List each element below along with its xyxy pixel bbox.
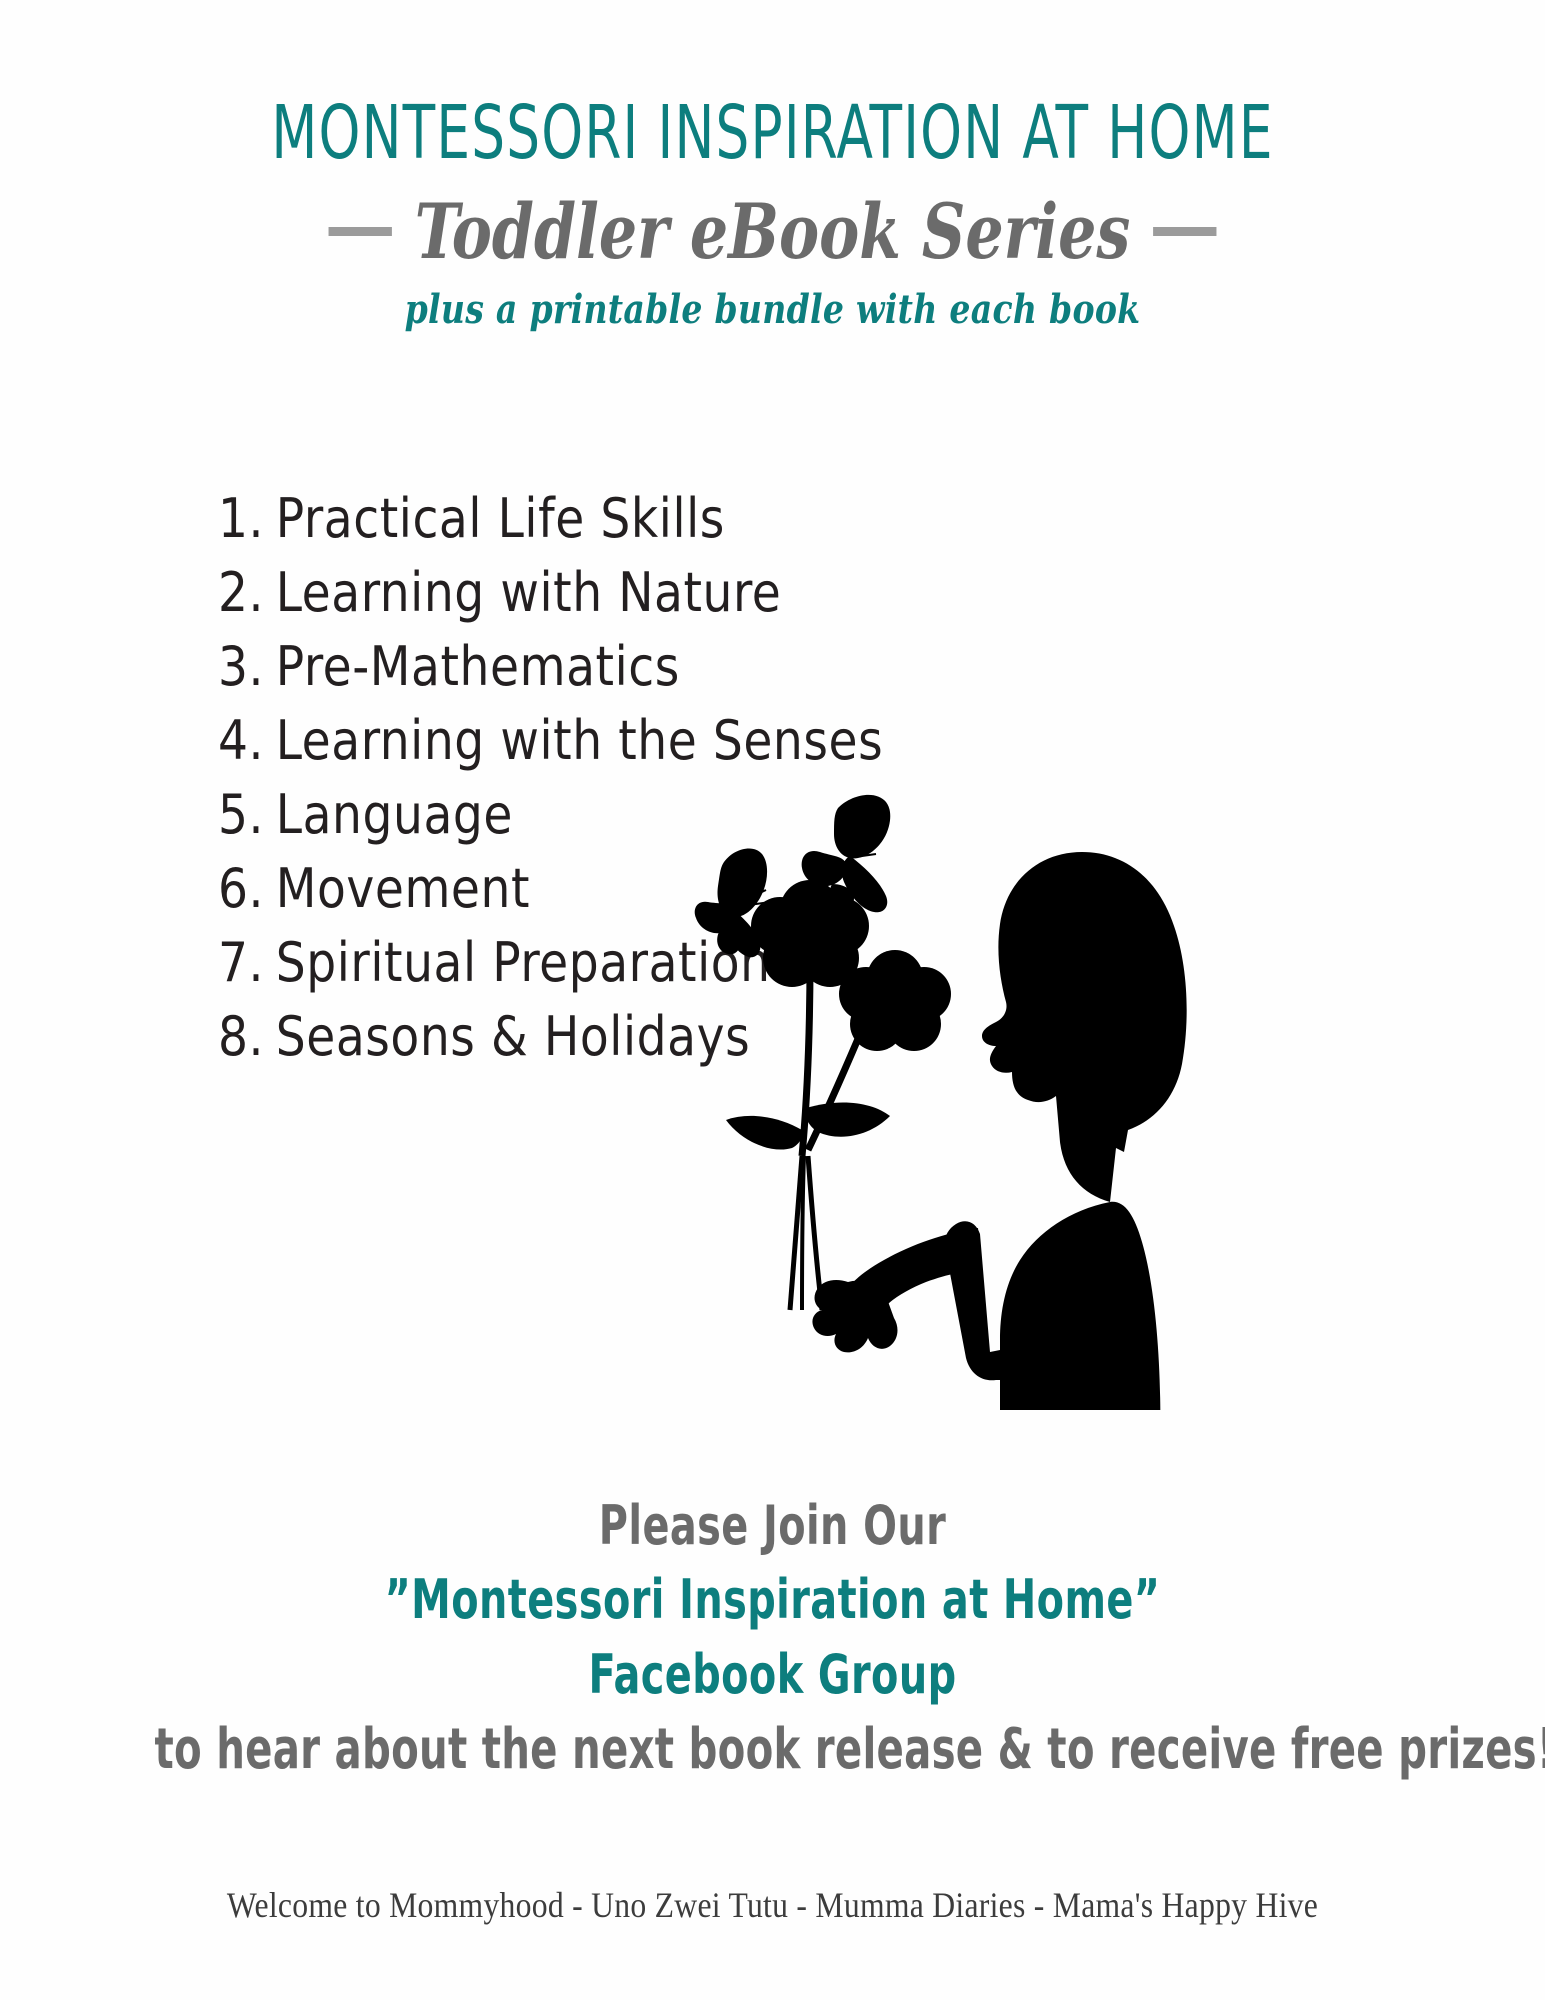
poster-header: MONTESSORI INSPIRATION AT HOME Toddler e… (0, 96, 1545, 333)
list-item-label: Language (276, 783, 513, 846)
call-to-action: Please Join Our ”Montessori Inspiration … (0, 1496, 1545, 1782)
list-item-number: 1. (218, 487, 264, 550)
dash-left-icon (328, 227, 391, 236)
poster-canvas: MONTESSORI INSPIRATION AT HOME Toddler e… (0, 0, 1545, 2000)
list-item-number: 2. (218, 561, 264, 624)
dash-right-icon (1153, 227, 1216, 236)
list-item-number: 3. (218, 635, 264, 698)
contributor-credits: Welcome to Mommyhood - Uno Zwei Tutu - M… (93, 1884, 1453, 1926)
subtitle-row: Toddler eBook Series (93, 192, 1453, 272)
list-item: 3.Pre-Mathematics (218, 640, 1091, 694)
list-item-number: 6. (218, 857, 264, 920)
list-item: 1.Practical Life Skills (218, 492, 1091, 546)
page-subtitle: Toddler eBook Series (415, 192, 1131, 272)
cta-benefit-text: to hear about the next book release & to… (155, 1719, 1391, 1782)
list-item-label: Spiritual Preparation (276, 931, 771, 994)
list-item-label: Learning with the Senses (276, 709, 883, 772)
list-item-label: Pre-Mathematics (276, 635, 680, 698)
list-item: 8.Seasons & Holidays (218, 1010, 1091, 1064)
cta-join-label: Please Join Our (139, 1496, 1406, 1556)
list-item-label: Learning with Nature (276, 561, 782, 624)
list-item-label: Movement (276, 857, 530, 920)
facebook-group-label[interactable]: Facebook Group (139, 1645, 1406, 1705)
list-item: 6.Movement (218, 862, 1091, 916)
list-item: 7.Spiritual Preparation (218, 936, 1091, 990)
book-series-list: 1.Practical Life Skills 2.Learning with … (218, 492, 1118, 1084)
list-item-label: Practical Life Skills (276, 487, 725, 550)
list-item: 4.Learning with the Senses (218, 714, 1091, 768)
list-item-number: 8. (218, 1005, 264, 1068)
list-item-number: 7. (218, 931, 264, 994)
flower-leaves (726, 1102, 890, 1149)
list-item-label: Seasons & Holidays (276, 1005, 750, 1068)
list-item: 5.Language (218, 788, 1091, 842)
facebook-group-name[interactable]: ”Montessori Inspiration at Home” (139, 1570, 1406, 1630)
page-tagline: plus a printable bundle with each book (62, 286, 1483, 333)
list-item: 2.Learning with Nature (218, 566, 1091, 620)
list-item-number: 4. (218, 709, 264, 772)
list-item-number: 5. (218, 783, 264, 846)
page-title: MONTESSORI INSPIRATION AT HOME (155, 96, 1391, 170)
